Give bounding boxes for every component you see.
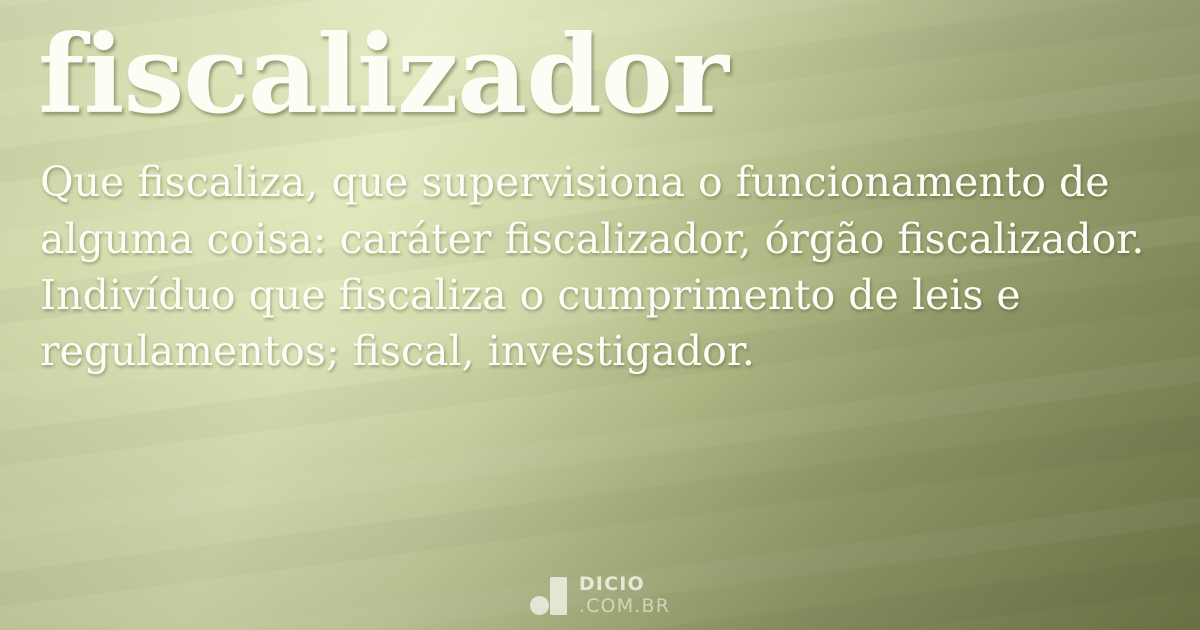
logo-name: DICIO [579, 575, 670, 594]
card-content: fiscalizador Que fiscaliza, que supervis… [0, 0, 1200, 630]
dicio-wordmark: DICIO .COM.BR [579, 575, 670, 616]
definition-list: Que fiscaliza, que supervisiona o funcio… [34, 154, 1166, 379]
logo-tld: .COM.BR [579, 597, 670, 616]
definition-item: Indivíduo que fiscaliza o cumprimento de… [40, 267, 1166, 379]
dicio-logo-mark-icon [530, 576, 568, 616]
headword: fiscalizador [34, 18, 1166, 132]
site-branding-footer: DICIO .COM.BR [0, 575, 1200, 616]
definition-item: Que fiscaliza, que supervisiona o funcio… [40, 154, 1166, 266]
word-definition-card: fiscalizador Que fiscaliza, que supervis… [0, 0, 1200, 630]
